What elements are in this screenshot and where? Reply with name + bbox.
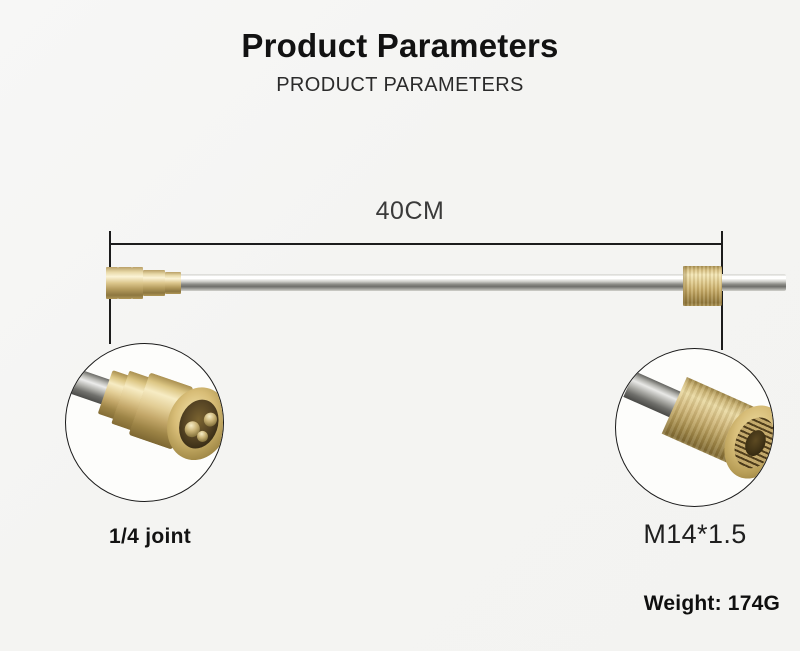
callout-caption-left: 1/4 joint [45, 525, 255, 549]
coupler-knurl-ring-1 [106, 267, 118, 299]
callout-circle-left [65, 343, 224, 502]
coupler-knurl-ring-3 [132, 267, 143, 299]
coupler-ring-2 [118, 267, 132, 299]
callout-left-artwork [66, 344, 223, 501]
page-subtitle: PRODUCT PARAMETERS [0, 74, 800, 97]
product-image [100, 255, 730, 320]
callout-circle-right [615, 348, 774, 507]
hex-nut-detail [615, 348, 774, 507]
callout-right-artwork [616, 349, 773, 506]
dimension-line [110, 243, 722, 245]
page-title: Product Parameters [0, 27, 800, 65]
dimension-length-label: 40CM [330, 197, 490, 226]
dimension-tick-right [721, 231, 723, 256]
right-hex-nut-fitting [683, 266, 722, 306]
coupler-hex-body [143, 270, 165, 296]
weight-label: Weight: 174G [520, 592, 780, 616]
hex-nut-shadow-edge [683, 266, 688, 306]
quick-connect-detail [65, 343, 224, 502]
callout-caption-right: M14*1.5 [600, 519, 790, 550]
product-parameters-page: Product Parameters PRODUCT PARAMETERS 40… [0, 0, 800, 651]
coupler-collar [165, 272, 181, 294]
left-quick-connect-fitting [106, 267, 182, 299]
dimension-tick-left [109, 231, 111, 256]
